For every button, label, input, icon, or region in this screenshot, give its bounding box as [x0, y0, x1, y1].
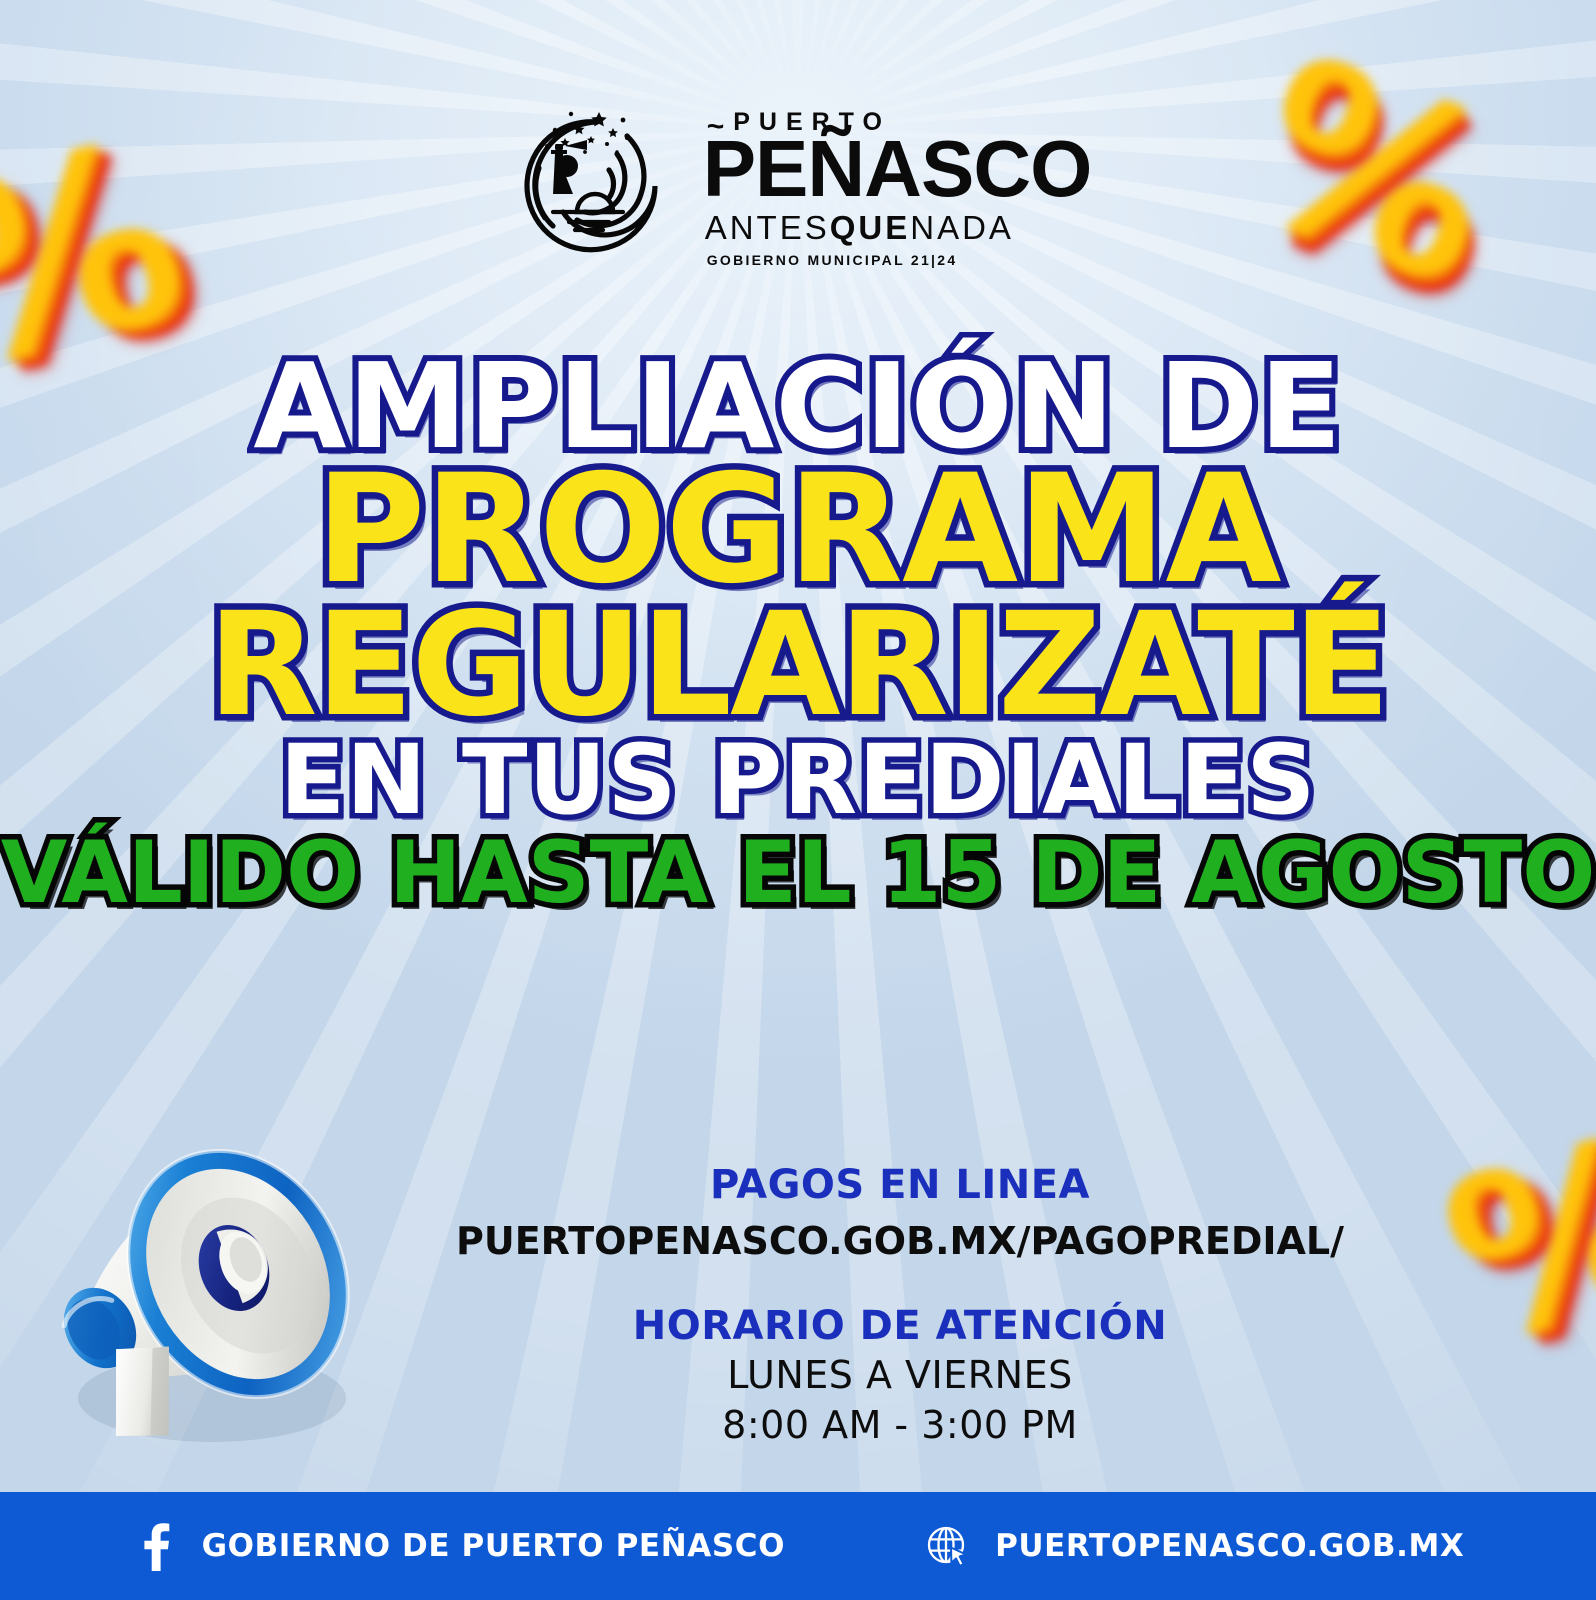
headline-line-3: REGULARIZATÉ: [0, 599, 1596, 731]
footer-facebook[interactable]: GOBIERNO DE PUERTO PEÑASCO: [132, 1521, 786, 1571]
slogan-suffix: NADA: [910, 209, 1014, 246]
online-payments-url[interactable]: PUERTOPENASCO.GOB.MX/PAGOPREDIAL/: [300, 1219, 1500, 1265]
footer-website[interactable]: PUERTOPENASCO.GOB.MX: [925, 1521, 1464, 1571]
slogan-bold: QUE: [830, 209, 911, 246]
slogan-prefix: ANTES: [705, 209, 830, 246]
municipal-logo: ~ PUERTO PEÑASCO ANTESQUENADA GOBIERNO M…: [0, 108, 1596, 268]
logo-penasco-text: PEÑASCO: [703, 131, 1092, 207]
headline-line-1: AMPLIACIÓN DE: [0, 352, 1596, 461]
promotional-poster: % % %: [0, 0, 1596, 1600]
hours-days: LUNES A VIERNES: [300, 1350, 1500, 1400]
facebook-icon: [132, 1521, 178, 1571]
headline-validity-line: VÁLIDO HASTA EL 15 DE AGOSTO: [0, 834, 1596, 913]
info-block: PAGOS EN LINEA PUERTOPENASCO.GOB.MX/PAGO…: [300, 1162, 1500, 1450]
shell-wave-emblem-icon: [505, 108, 683, 268]
logo-government-line: GOBIERNO MUNICIPAL 21|24: [707, 252, 958, 268]
logo-wordmark: ~ PUERTO PEÑASCO ANTESQUENADA GOBIERNO M…: [703, 108, 1092, 268]
footer-website-label: PUERTOPENASCO.GOB.MX: [995, 1528, 1464, 1564]
footer-facebook-label: GOBIERNO DE PUERTO PEÑASCO: [202, 1528, 786, 1564]
hours-heading: HORARIO DE ATENCIÓN: [300, 1303, 1500, 1350]
info-spacer: [300, 1265, 1500, 1303]
footer-bar: GOBIERNO DE PUERTO PEÑASCO PUERTOPENASCO…: [0, 1492, 1596, 1600]
headline-block: AMPLIACIÓN DE PROGRAMA REGULARIZATÉ EN T…: [0, 352, 1596, 914]
hours-time: 8:00 AM - 3:00 PM: [300, 1400, 1500, 1450]
logo-slogan: ANTESQUENADA: [705, 209, 1014, 247]
headline-line-4: EN TUS PREDIALES: [0, 736, 1596, 824]
globe-cursor-icon: [925, 1521, 971, 1571]
online-payments-heading: PAGOS EN LINEA: [300, 1162, 1500, 1209]
headline-line-2: PROGRAMA: [0, 461, 1596, 599]
